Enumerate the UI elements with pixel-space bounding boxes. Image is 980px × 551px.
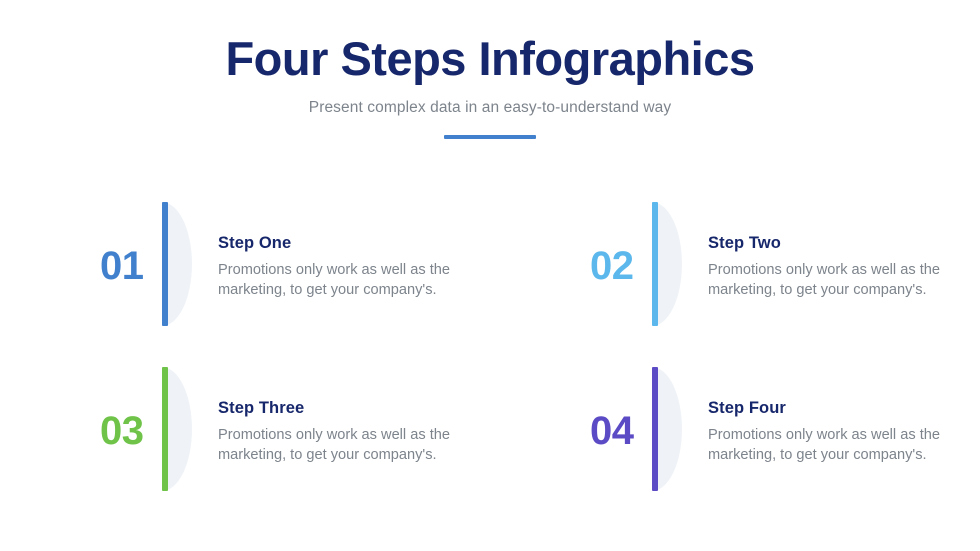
step-number-04: 04 — [590, 411, 652, 451]
step-number-02: 02 — [590, 246, 652, 286]
step-marker-01 — [162, 202, 194, 326]
step-description-04: Promotions only work as well as the mark… — [708, 426, 966, 466]
step-description-02: Promotions only work as well as the mark… — [708, 261, 966, 301]
step-marker-04 — [652, 367, 684, 491]
step-title-04: Step Four — [708, 399, 980, 418]
step-title-02: Step Two — [708, 234, 980, 253]
step-marker-02 — [652, 202, 684, 326]
step-title-01: Step One — [218, 234, 490, 253]
step-description-01: Promotions only work as well as the mark… — [218, 261, 476, 301]
step-marker-03 — [162, 367, 194, 491]
slide-canvas: Four Steps Infographics Present complex … — [0, 0, 980, 551]
vertical-bar-icon — [652, 202, 658, 326]
step-title-03: Step Three — [218, 399, 490, 418]
vertical-bar-icon — [162, 367, 168, 491]
page-subtitle: Present complex data in an easy-to-under… — [0, 99, 980, 117]
steps-grid: 01 Step One Promotions only work as well… — [0, 198, 980, 528]
vertical-bar-icon — [652, 367, 658, 491]
step-item-01[interactable]: 01 Step One Promotions only work as well… — [0, 198, 490, 363]
page-title: Four Steps Infographics — [0, 34, 980, 85]
slide-header: Four Steps Infographics Present complex … — [0, 34, 980, 139]
step-text-01: Step One Promotions only work as well as… — [194, 198, 490, 301]
step-number-03: 03 — [100, 411, 162, 451]
step-text-02: Step Two Promotions only work as well as… — [684, 198, 980, 301]
step-item-04[interactable]: 04 Step Four Promotions only work as wel… — [490, 363, 980, 528]
step-text-04: Step Four Promotions only work as well a… — [684, 363, 980, 466]
vertical-bar-icon — [162, 202, 168, 326]
step-item-02[interactable]: 02 Step Two Promotions only work as well… — [490, 198, 980, 363]
step-number-01: 01 — [100, 246, 162, 286]
step-item-03[interactable]: 03 Step Three Promotions only work as we… — [0, 363, 490, 528]
title-accent-bar — [444, 135, 536, 139]
step-text-03: Step Three Promotions only work as well … — [194, 363, 490, 466]
step-description-03: Promotions only work as well as the mark… — [218, 426, 476, 466]
